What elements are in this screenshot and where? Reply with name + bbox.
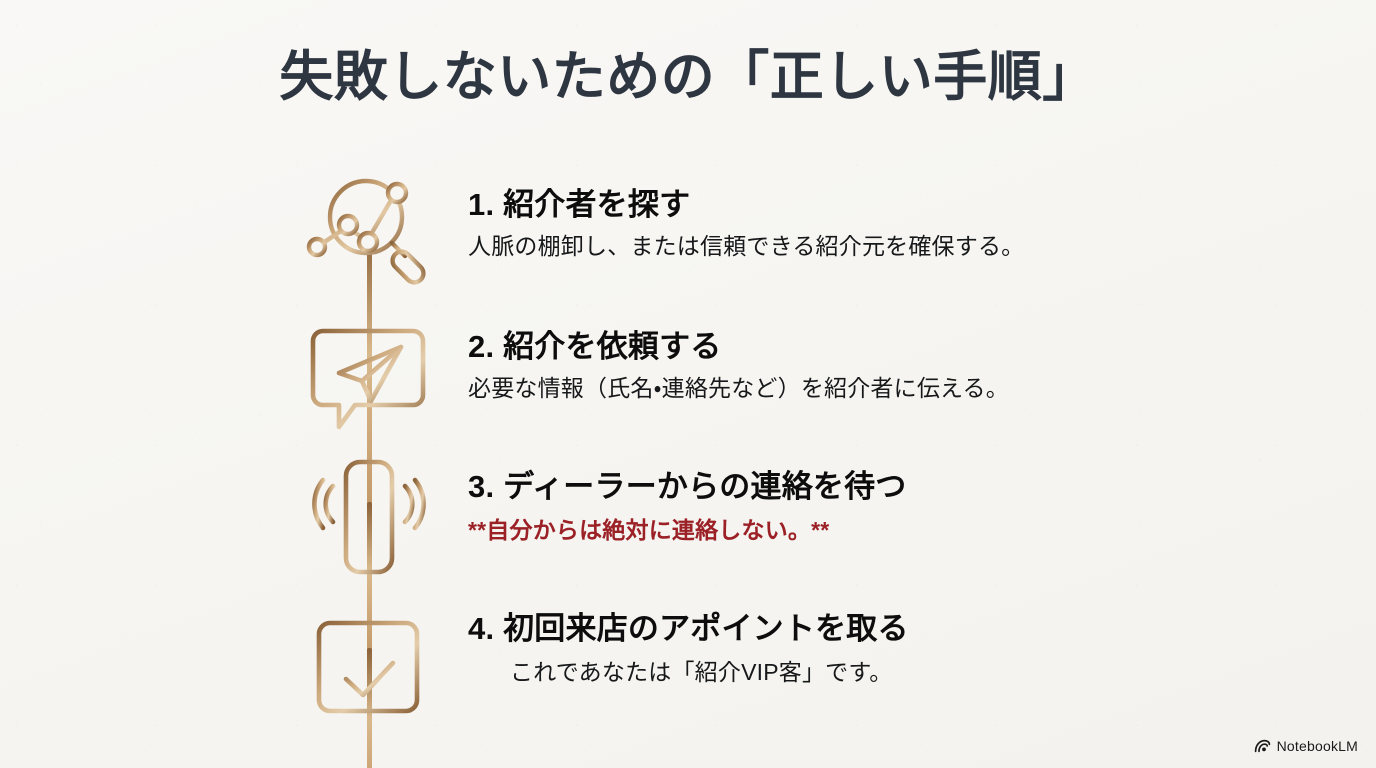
search-network-icon (296, 172, 440, 292)
step-1-description: 人脈の棚卸し、または信頼できる紹介元を確保する。 (468, 231, 1298, 262)
message-send-icon (296, 320, 440, 440)
icon-rail (296, 172, 440, 724)
step-item-4: 4. 初回来店のアポイントを取る これであなたは「紹介VIP客」です。 (468, 610, 1298, 688)
step-item-1: 1. 紹介者を探す 人脈の棚卸し、または信頼できる紹介元を確保する。 (468, 186, 1298, 262)
phone-ringing-icon (296, 456, 440, 578)
step-4-heading: 4. 初回来店のアポイントを取る (468, 610, 1298, 649)
slide-canvas: 失敗しないための「正しい手順」 (0, 0, 1376, 768)
step-2-heading: 2. 紹介を依頼する (468, 328, 1298, 367)
calendar-check-icon (296, 602, 440, 722)
step-3-description-warning: **自分からは絶対に連絡しない。** (468, 515, 1298, 546)
steps-list: 1. 紹介者を探す 人脈の棚卸し、または信頼できる紹介元を確保する。 2. 紹介… (296, 172, 1306, 732)
step-4-description: これであなたは「紹介VIP客」です。 (468, 657, 1298, 688)
notebooklm-watermark-label: NotebookLM (1277, 738, 1358, 754)
step-1-heading: 1. 紹介者を探す (468, 186, 1298, 225)
step-item-2: 2. 紹介を依頼する 必要な情報（氏名・連絡先など）を紹介者に伝える。 (468, 328, 1298, 404)
notebooklm-watermark: NotebookLM (1254, 738, 1358, 754)
notebooklm-logo-icon (1254, 739, 1271, 753)
step-2-description: 必要な情報（氏名・連絡先など）を紹介者に伝える。 (468, 373, 1298, 404)
step-3-heading: 3. ディーラーからの連絡を待つ (468, 468, 1298, 507)
page-title: 失敗しないための「正しい手順」 (0, 46, 1376, 108)
step-item-3: 3. ディーラーからの連絡を待つ **自分からは絶対に連絡しない。** (468, 468, 1298, 546)
